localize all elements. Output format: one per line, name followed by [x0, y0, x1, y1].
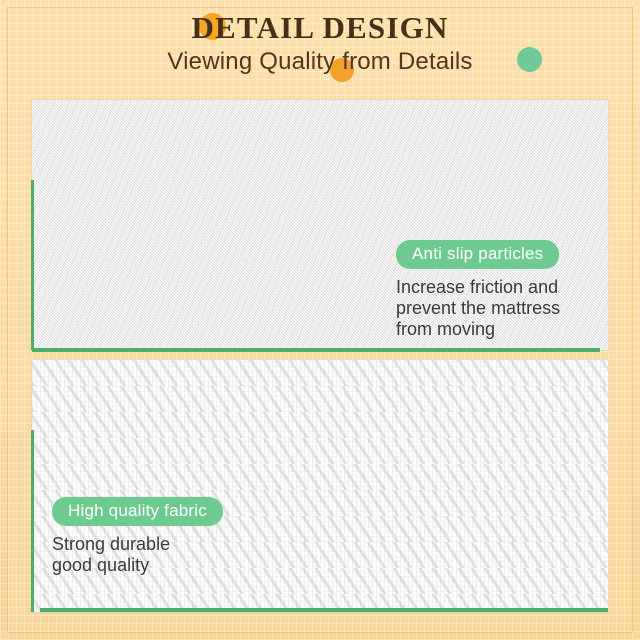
callout-high-quality-fabric: High quality fabric Strong durable good … [52, 497, 282, 576]
badge-high-quality-fabric: High quality fabric [52, 497, 223, 526]
page-subtitle: Viewing Quality from Details [167, 47, 472, 77]
callout-anti-slip: Anti slip particles Increase friction an… [396, 240, 606, 340]
header: DETAIL DESIGN Viewing Quality from Detai… [0, 0, 640, 92]
panel-accent-edge-bottom-top [32, 348, 600, 352]
detail-design-page: DETAIL DESIGN Viewing Quality from Detai… [0, 0, 640, 640]
callout-body-high-quality-fabric: Strong durable good quality [52, 534, 282, 576]
panel-accent-edge-left-bottom [31, 430, 34, 612]
callout-body-anti-slip: Increase friction and prevent the mattre… [396, 277, 606, 340]
title-block: DETAIL DESIGN Viewing Quality from Detai… [167, 11, 472, 77]
badge-anti-slip-particles: Anti slip particles [396, 240, 559, 269]
panel-accent-edge-bottom-bottom [40, 608, 608, 612]
panel-accent-edge-left-top [31, 180, 34, 350]
green-circle-decor-subtitle-icon [517, 47, 542, 72]
page-title: DETAIL DESIGN [167, 11, 472, 45]
